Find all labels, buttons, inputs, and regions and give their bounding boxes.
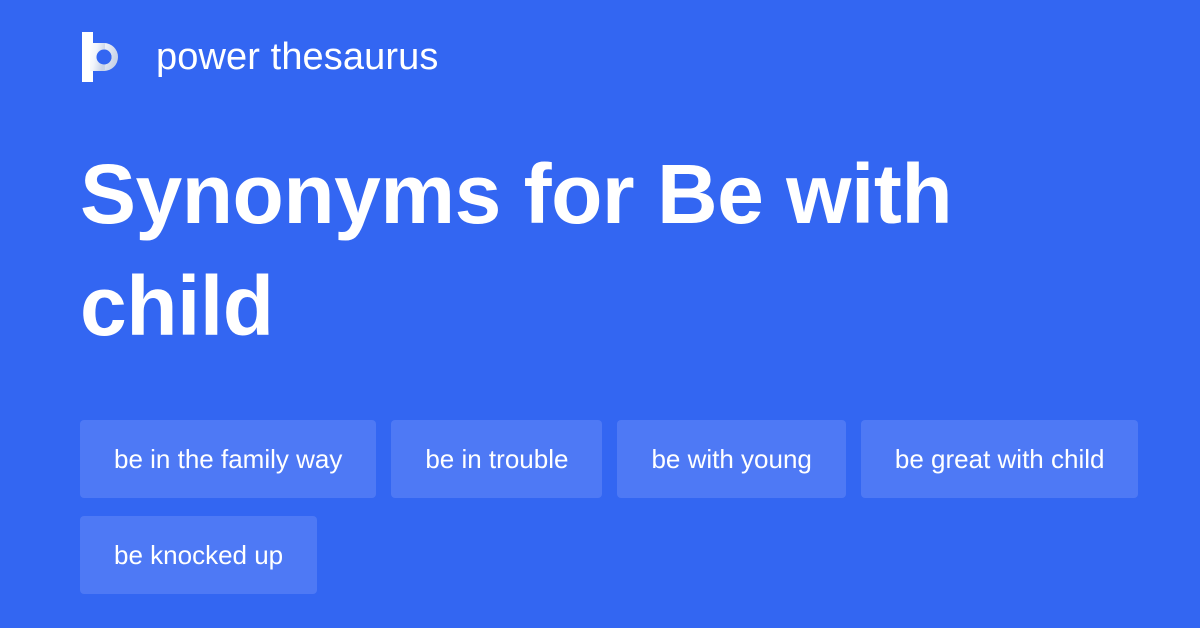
brand-header[interactable]: power thesaurus bbox=[80, 28, 438, 86]
synonym-chip[interactable]: be in the family way bbox=[80, 420, 376, 498]
page-title: Synonyms for Be with child bbox=[80, 138, 1080, 362]
share-card: power thesaurus Synonyms for Be with chi… bbox=[0, 0, 1200, 628]
synonym-chip[interactable]: be with young bbox=[617, 420, 845, 498]
synonym-chip[interactable]: be in trouble bbox=[391, 420, 602, 498]
synonym-chip-list: be in the family way be in trouble be wi… bbox=[80, 420, 1140, 594]
power-thesaurus-logo-icon bbox=[80, 32, 128, 82]
brand-name: power thesaurus bbox=[156, 35, 438, 79]
synonym-chip[interactable]: be knocked up bbox=[80, 516, 317, 594]
synonym-chip[interactable]: be great with child bbox=[861, 420, 1139, 498]
